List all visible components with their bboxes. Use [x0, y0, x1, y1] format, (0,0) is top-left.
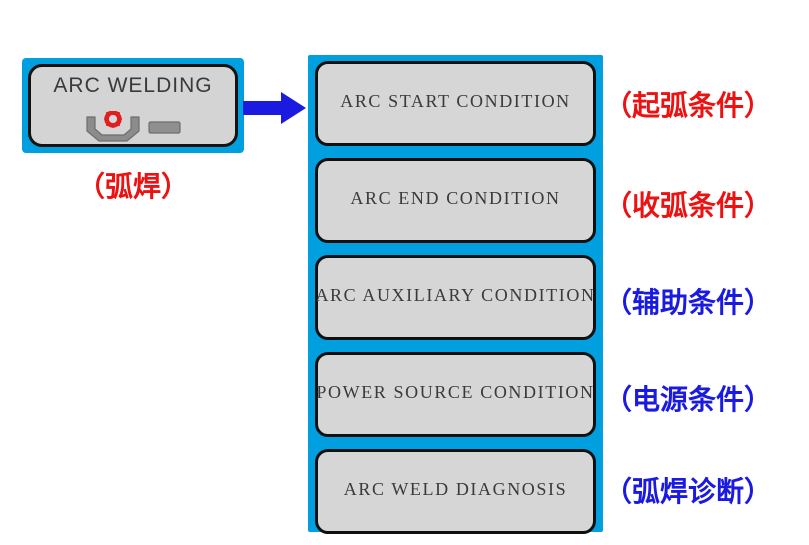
- condition-box-label: ARC WELD DIAGNOSIS: [344, 479, 567, 500]
- annotation-arc-auxiliary: （辅助条件）: [604, 281, 804, 321]
- arc-condition-panel: ARC START CONDITION ARC END CONDITION AR…: [308, 55, 603, 532]
- condition-box-power-source[interactable]: POWER SOURCE CONDITION: [315, 352, 596, 437]
- blue-right-arrow-icon: [243, 90, 307, 126]
- condition-box-label: ARC AUXILIARY CONDITION: [315, 285, 595, 306]
- source-button-face: ARC WELDING: [28, 64, 238, 147]
- condition-box-arc-weld-diagnosis[interactable]: ARC WELD DIAGNOSIS: [315, 449, 596, 534]
- arc-welding-source-button[interactable]: ARC WELDING: [22, 58, 244, 153]
- source-button-label: ARC WELDING: [31, 74, 235, 98]
- condition-box-label: POWER SOURCE CONDITION: [316, 382, 594, 403]
- diagram-canvas: ARC WELDING: [0, 0, 809, 545]
- condition-box-arc-start[interactable]: ARC START CONDITION: [315, 61, 596, 146]
- condition-box-label: ARC START CONDITION: [340, 91, 571, 112]
- condition-box-arc-end[interactable]: ARC END CONDITION: [315, 158, 596, 243]
- annotation-power-source: （电源条件）: [604, 378, 804, 418]
- condition-box-arc-auxiliary[interactable]: ARC AUXILIARY CONDITION: [315, 255, 596, 340]
- source-caption-chinese: （弧焊）: [22, 165, 244, 205]
- annotation-arc-weld-diagnosis: （弧焊诊断）: [604, 470, 804, 510]
- condition-box-label: ARC END CONDITION: [350, 188, 560, 209]
- annotation-arc-start: （起弧条件）: [604, 84, 804, 124]
- welding-torch-icon: [81, 111, 185, 145]
- annotation-arc-end: （收弧条件）: [604, 184, 804, 224]
